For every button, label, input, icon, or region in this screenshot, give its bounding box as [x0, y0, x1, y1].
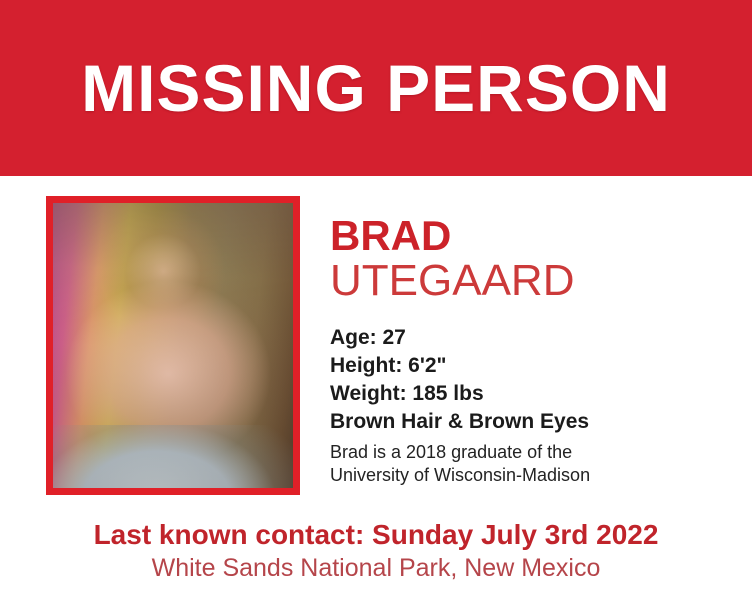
photo-image [53, 203, 293, 488]
detail-height: Height: 6'2" [330, 352, 730, 380]
missing-person-photo [46, 196, 300, 495]
person-last-name: UTEGAARD [330, 258, 730, 304]
person-name-block: BRAD UTEGAARD [330, 214, 730, 304]
person-note-line-2: University of Wisconsin-Madison [330, 464, 730, 487]
person-first-name: BRAD [330, 214, 730, 258]
poster-footer: Last known contact: Sunday July 3rd 2022… [0, 518, 752, 584]
person-details-block: Age: 27 Height: 6'2" Weight: 185 lbs Bro… [330, 324, 730, 487]
photo-overlay [53, 203, 293, 488]
poster-header-banner: MISSING PERSON [0, 0, 752, 176]
last-known-contact: Last known contact: Sunday July 3rd 2022 [0, 518, 752, 552]
poster-title: MISSING PERSON [81, 55, 671, 121]
person-note-line-1: Brad is a 2018 graduate of the [330, 441, 730, 464]
person-note: Brad is a 2018 graduate of the Universit… [330, 441, 730, 487]
detail-weight: Weight: 185 lbs [330, 380, 730, 408]
missing-person-poster: MISSING PERSON BRAD UTEGAARD Age: 27 Hei… [0, 0, 752, 601]
detail-hair-eyes: Brown Hair & Brown Eyes [330, 408, 730, 436]
detail-age: Age: 27 [330, 324, 730, 352]
last-known-location: White Sands National Park, New Mexico [0, 552, 752, 584]
